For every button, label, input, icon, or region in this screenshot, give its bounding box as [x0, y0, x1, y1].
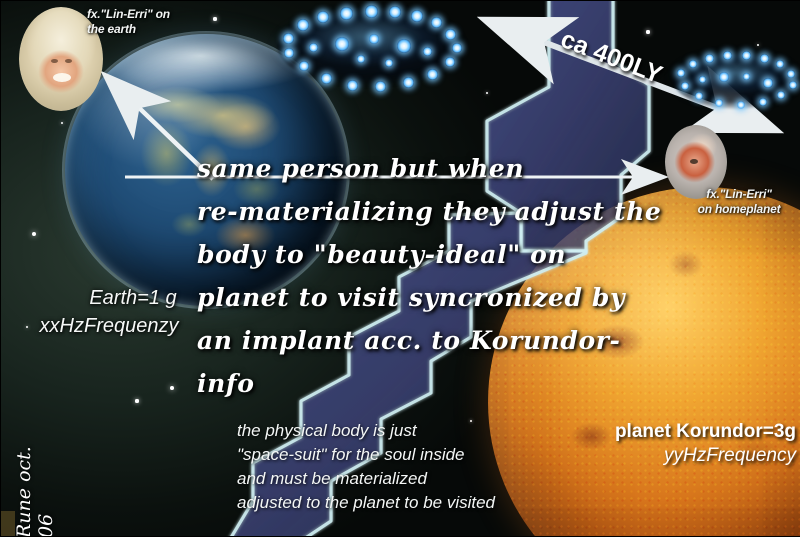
ufo-light — [403, 77, 414, 88]
ufo-light — [695, 92, 703, 100]
star-dot — [170, 386, 174, 390]
ufo-light — [789, 81, 797, 89]
ufo-light — [321, 73, 332, 84]
label-korundor-gravity: planet Korundor=3g — [571, 421, 796, 443]
ufo-light — [431, 17, 442, 28]
ufo-light — [677, 69, 685, 77]
ufo-light — [375, 81, 386, 92]
ufo-light — [347, 80, 358, 91]
ufo-light — [427, 69, 438, 80]
ufo-light — [397, 39, 411, 53]
ufo-light — [699, 76, 706, 83]
ufo-light — [777, 91, 785, 99]
label-earth-frequency: xxHzFrequenzy — [9, 312, 209, 340]
ufo-light — [743, 73, 750, 80]
star-dot — [61, 122, 63, 124]
ufo-light — [369, 34, 379, 44]
label-earth-gravity: Earth=1 g — [53, 284, 213, 312]
ufo-light — [445, 57, 455, 67]
ufo-light — [719, 72, 729, 82]
body-explanation-text: the physical body is just "space-suit" f… — [237, 419, 557, 515]
ufo-light — [759, 98, 767, 106]
ufo-light — [423, 47, 432, 56]
ufo-light — [452, 43, 462, 53]
ufo-craft-large — [277, 3, 459, 87]
ufo-light — [776, 60, 784, 68]
ufo-light — [723, 51, 732, 60]
label-portrait-earth: fx."Lin-Erri" on the earth — [87, 7, 227, 37]
ufo-light — [689, 60, 697, 68]
ufo-light — [705, 54, 714, 63]
star-dot — [135, 399, 138, 402]
ufo-light — [299, 61, 309, 71]
label-korundor-frequency: yyHzFrequency — [571, 445, 796, 467]
ufo-light — [365, 5, 378, 18]
label-portrait-homeplanet: fx."Lin-Erri" on homeplanet — [677, 187, 800, 217]
star-dot — [486, 92, 489, 95]
ufo-light — [445, 29, 456, 40]
ufo-light — [340, 7, 353, 20]
ufo-small-hull — [673, 49, 797, 109]
ufo-light — [763, 78, 773, 88]
corner-color-swatch — [1, 511, 15, 536]
ufo-light — [787, 70, 795, 78]
ufo-light — [760, 54, 769, 63]
ufo-light — [357, 55, 365, 63]
artist-signature: Rune oct. 06 — [13, 418, 57, 537]
ufo-light — [335, 37, 349, 51]
ufo-light — [283, 33, 294, 44]
ufo-light — [297, 19, 309, 31]
ufo-light — [742, 51, 751, 60]
ufo-light — [317, 11, 329, 23]
portrait-earth-eye-left — [51, 59, 58, 63]
ufo-light — [737, 101, 745, 109]
ufo-light — [411, 10, 423, 22]
ufo-light — [284, 48, 294, 58]
ufo-craft-small — [673, 49, 797, 109]
ufo-light — [715, 99, 723, 107]
label-distance-400ly: ca 400LY — [557, 25, 666, 90]
ufo-light — [309, 43, 318, 52]
ufo-light — [681, 82, 689, 90]
ufo-light — [389, 6, 401, 18]
star-dot — [646, 30, 649, 33]
illustration-canvas: fx."Lin-Erri" on the earth fx."Lin-Erri"… — [0, 0, 800, 537]
star-dot — [32, 232, 36, 236]
portrait-earth-mouth — [53, 73, 71, 82]
ufo-light — [385, 59, 393, 67]
